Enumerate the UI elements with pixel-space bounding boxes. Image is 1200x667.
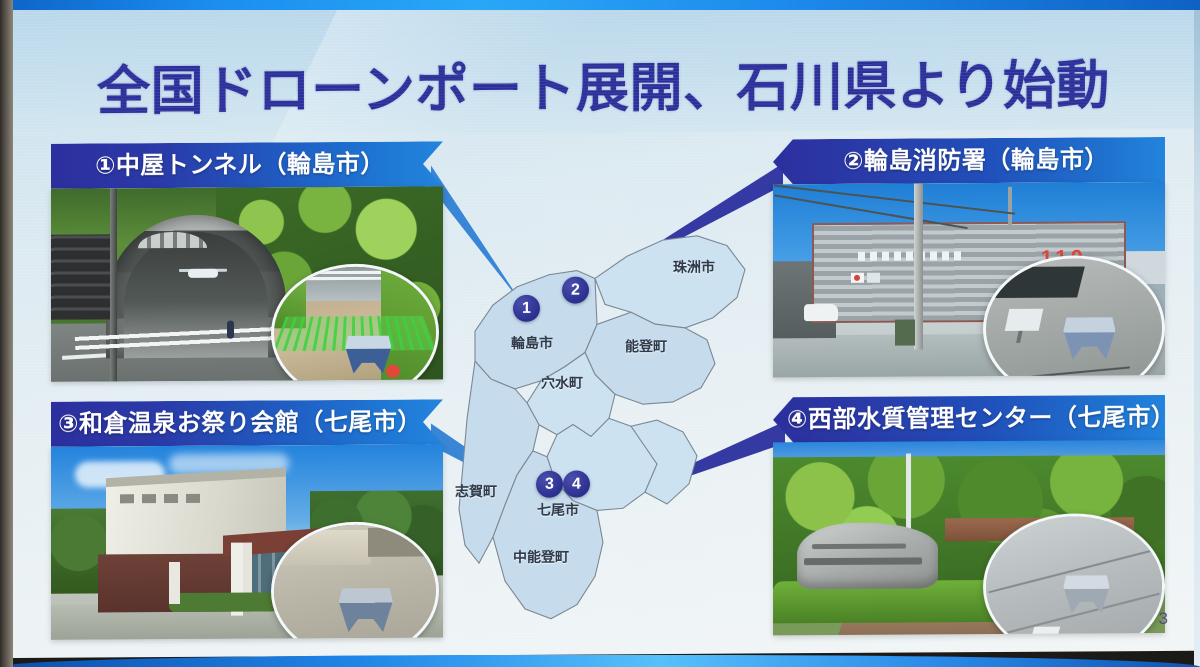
ground-panel	[1005, 309, 1044, 331]
utility-pole	[914, 183, 923, 349]
map-label-nanao: 七尾市	[537, 500, 579, 520]
drone-port-inset-festival-hall	[271, 521, 439, 639]
map-label-wajima: 輪島市	[511, 333, 553, 353]
screen-top-edge	[0, 0, 1200, 10]
location-label-4: ④西部水質管理センター（七尾市）	[773, 395, 1165, 442]
location-panel-2[interactable]: ②輪島消防署（輪島市） 119	[773, 137, 1165, 377]
drone-icon	[188, 269, 218, 278]
screen-right-edge	[1194, 0, 1200, 667]
page-number: 3	[1159, 609, 1168, 629]
roof-shadow	[993, 267, 1085, 298]
map-marker-1[interactable]: 1	[513, 295, 540, 322]
location-label-3: ③和倉温泉お祭り会館（七尾市）	[51, 399, 443, 446]
wakura-onsen-festival-hall-photo	[51, 444, 443, 639]
map-shape	[445, 211, 775, 637]
monument-text-line-1	[812, 544, 906, 550]
location-panel-4[interactable]: ④西部水質管理センター（七尾市）	[773, 395, 1165, 635]
person	[227, 320, 234, 338]
presentation-slide: 全国ドローンポート展開、石川県より始動 ①中屋トンネル（輪島市）	[13, 1, 1194, 658]
location-panel-3[interactable]: ③和倉温泉お祭り会館（七尾市）	[51, 399, 443, 639]
stone-monument-sign	[797, 522, 938, 588]
map-region-suzu	[595, 236, 745, 329]
building-signage	[858, 251, 963, 261]
nakaya-tunnel-photo	[51, 186, 443, 381]
map-label-anamizu: 穴水町	[541, 373, 583, 393]
map-label-suzu: 珠洲市	[673, 257, 715, 277]
drone-port-device	[339, 588, 393, 632]
map-label-shika: 志賀町	[455, 481, 497, 501]
map-label-nakanoto: 中能登町	[513, 547, 569, 567]
drone-port-device	[1063, 317, 1115, 359]
noto-peninsula-map[interactable]: 珠洲市 輪島市 能登町 穴水町 志賀町 七尾市 中能登町 1 2 3 4	[445, 211, 775, 637]
sign-post	[169, 562, 180, 605]
drone-port-inset-fire-station	[983, 255, 1165, 377]
map-marker-3[interactable]: 3	[536, 471, 563, 498]
wajima-fire-station-photo: 119	[773, 182, 1165, 377]
slide-photo-stage: 全国ドローンポート展開、石川県より始動 ①中屋トンネル（輪島市）	[0, 0, 1200, 667]
room-left-wall	[0, 0, 13, 667]
flag-pole	[906, 453, 911, 530]
tunnel-name-plate	[138, 232, 207, 248]
drone-port-device	[1063, 575, 1109, 613]
map-label-noto-town: 能登町	[625, 336, 667, 356]
roof-parapet	[274, 530, 371, 565]
second-flag	[867, 272, 880, 282]
antenna-mast	[1008, 187, 1012, 229]
monument-text-line-2	[804, 557, 922, 565]
map-marker-4[interactable]: 4	[563, 470, 590, 497]
roof-structure	[368, 527, 436, 556]
location-panel-1[interactable]: ①中屋トンネル（輪島市）	[51, 141, 443, 381]
location-label-1: ①中屋トンネル（輪島市）	[51, 141, 443, 188]
location-label-2: ②輪島消防署（輪島市）	[773, 137, 1165, 184]
drone-port-device	[345, 335, 391, 373]
parked-car	[804, 304, 838, 321]
retaining-wall	[51, 235, 114, 320]
drone-port-inset-tunnel	[271, 263, 439, 381]
map-marker-2[interactable]: 2	[562, 276, 589, 303]
drone-port-inset-water-center	[983, 513, 1165, 635]
seibu-water-quality-center-photo	[773, 440, 1165, 635]
hedge	[169, 592, 279, 612]
utility-box	[895, 320, 915, 346]
japan-flag	[851, 273, 864, 283]
